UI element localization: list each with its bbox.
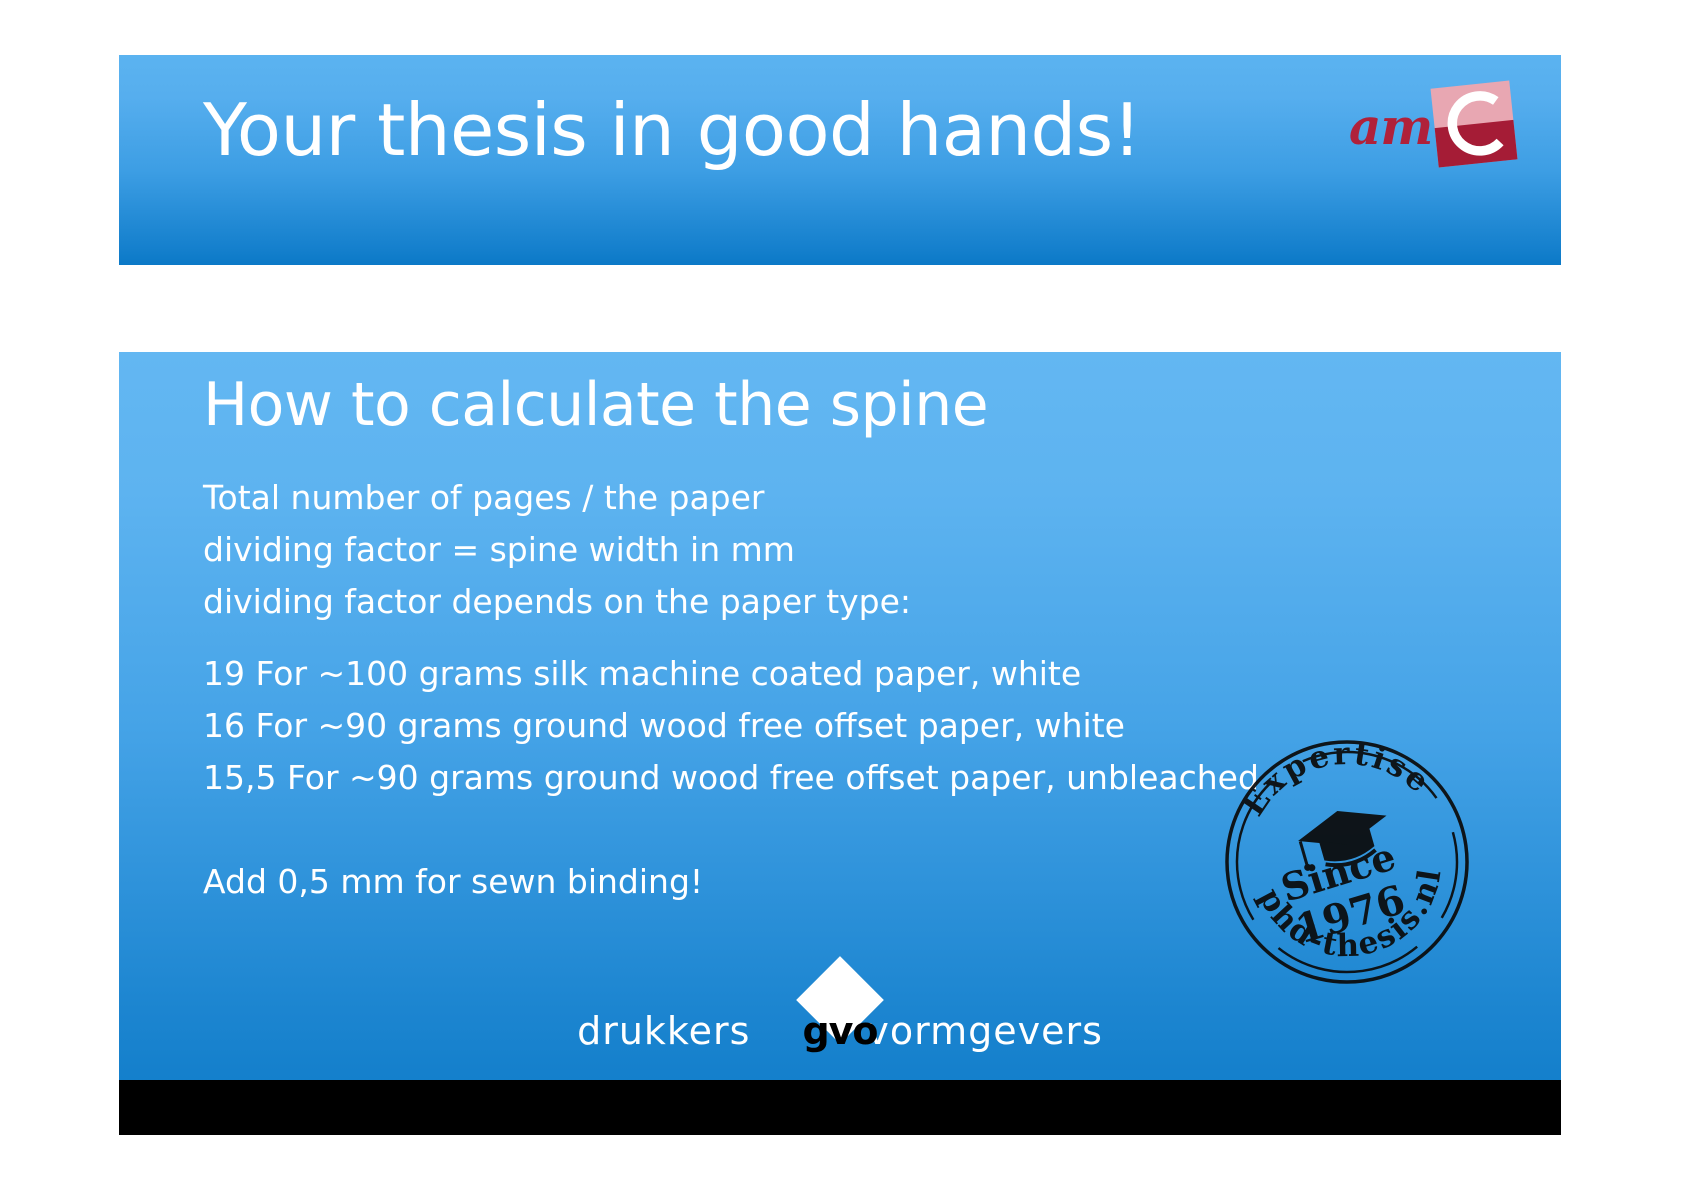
intro-line-3: dividing factor depends on the paper typ… [203,576,1533,628]
footer-word-vormgevers: vormgevers [866,1009,1103,1053]
amc-logo: am [1339,75,1519,195]
spacer [203,628,1533,648]
gvo-label: gvo [802,1009,877,1053]
section-title: How to calculate the spine [203,374,988,437]
gvo-footer-logo: drukkers vormgevers gvo [119,987,1561,1063]
header-panel: Your thesis in good hands! am [119,55,1561,265]
footer-black-bar [119,1080,1561,1135]
factor-line-1: 19 For ~100 grams silk machine coated pa… [203,648,1533,700]
intro-line-1: Total number of pages / the paper [203,472,1533,524]
intro-line-2: dividing factor = spine width in mm [203,524,1533,576]
content-panel: How to calculate the spine Total number … [119,352,1561,1135]
expertise-stamp: Expertise phd-thesis.nl Since 1976 [1200,715,1494,1009]
footer-word-drukkers: drukkers [577,1009,750,1053]
page-title: Your thesis in good hands! [203,93,1141,169]
amc-wordmark: am [1349,97,1432,156]
amc-c-mark-icon [1427,77,1522,172]
